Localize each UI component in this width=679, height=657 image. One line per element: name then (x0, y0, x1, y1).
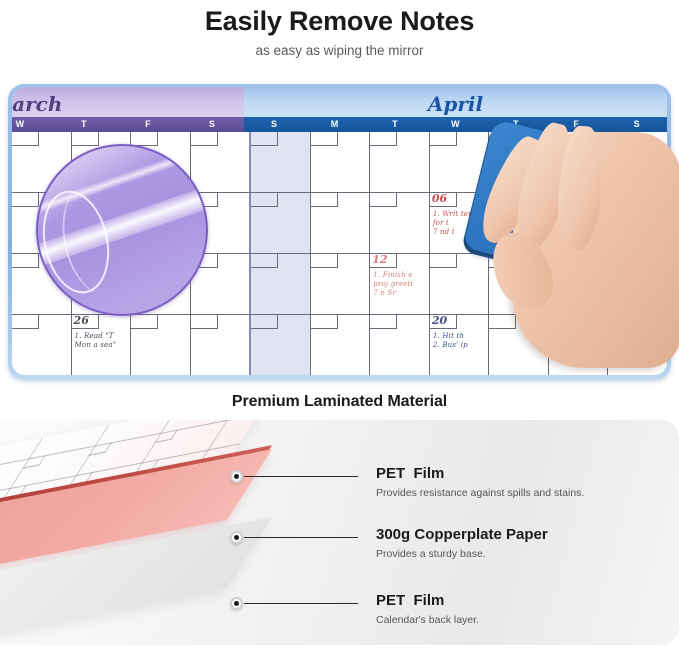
laminate-closeup-magnifier (36, 144, 208, 316)
date-box (370, 132, 397, 146)
date-box (251, 315, 278, 329)
callout-line (244, 537, 358, 538)
calendar-cell[interactable] (190, 132, 250, 192)
callout-desc: Calendar's back layer. (376, 612, 479, 628)
month-label-march: March (12, 92, 62, 116)
dow-cell: T (365, 117, 425, 132)
calendar-cell[interactable] (369, 193, 429, 253)
handwritten-note: 1. Finish e proj greeti 7 n Sr (373, 271, 413, 298)
calendar-cell[interactable] (310, 315, 370, 375)
callout-text-pet-film-back: PET Film Calendar's back layer. (376, 591, 479, 628)
date-box (430, 254, 457, 268)
calendar-cell[interactable] (369, 132, 429, 192)
dow-cell: S (244, 117, 304, 132)
date-number: 06 (432, 192, 447, 206)
date-box (12, 315, 39, 329)
callout-text-copperplate-paper: 300g Copperplate Paper Provides a sturdy… (376, 525, 548, 562)
page-subtitle: as easy as wiping the mirror (0, 40, 679, 62)
date-box (251, 193, 278, 207)
calendar-cell[interactable] (190, 315, 250, 375)
callout-dot-pet-film-top[interactable] (230, 470, 243, 483)
callout-dot-pet-film-back[interactable] (230, 597, 243, 610)
date-box (311, 193, 338, 207)
calendar-cell[interactable] (249, 193, 310, 253)
date-number: 12 (372, 253, 387, 267)
date-box (12, 132, 39, 146)
date-box (191, 315, 218, 329)
callout-line (244, 476, 358, 477)
callout-title: PET Film (376, 464, 584, 484)
dow-cell: M (304, 117, 364, 132)
callout-desc: Provides a sturdy base. (376, 546, 548, 562)
callout-title: PET Film (376, 591, 479, 611)
callout-line (244, 603, 358, 604)
date-box (12, 254, 39, 268)
month-bar-march: March (12, 87, 244, 117)
page-header: Easily Remove Notes as easy as wiping th… (0, 0, 679, 62)
calendar-cell[interactable] (130, 315, 190, 375)
date-box (251, 254, 278, 268)
layer-callouts: PET Film Provides resistance against spi… (0, 420, 679, 645)
calendar-cell[interactable] (310, 193, 370, 253)
calendar-cell[interactable] (249, 315, 310, 375)
date-box (191, 132, 218, 146)
date-box (370, 315, 397, 329)
date-box (311, 132, 338, 146)
dow-march: W T F S (12, 117, 244, 132)
handwritten-note: 1. Read "T Mon a sea" (75, 332, 117, 350)
date-box (131, 132, 158, 146)
dow-cell: F (116, 117, 180, 132)
calendar-cell[interactable] (249, 132, 310, 192)
dow-cell: T (52, 117, 116, 132)
date-number: 20 (432, 314, 447, 328)
hand-with-eraser (455, 112, 679, 382)
material-section-title: Premium Laminated Material (0, 393, 679, 411)
date-box (430, 132, 457, 146)
date-box (131, 315, 158, 329)
date-box (12, 193, 39, 207)
callout-text-pet-film-top: PET Film Provides resistance against spi… (376, 464, 584, 501)
date-box (72, 132, 99, 146)
dow-cell: W (12, 117, 52, 132)
material-panel: PET Film Provides resistance against spi… (0, 420, 679, 645)
calendar-cell[interactable] (310, 132, 370, 192)
date-box (370, 193, 397, 207)
calendar-cell[interactable] (12, 315, 71, 375)
calendar-cell[interactable] (310, 254, 370, 314)
date-box (311, 254, 338, 268)
calendar-cell[interactable] (369, 315, 429, 375)
callout-title: 300g Copperplate Paper (376, 525, 548, 545)
calendar-cell[interactable]: 26 1. Read "T Mon a sea" (71, 315, 131, 375)
date-number: 26 (74, 314, 89, 328)
date-box (311, 315, 338, 329)
calendar-cell[interactable] (249, 254, 310, 314)
callout-desc: Provides resistance against spills and s… (376, 485, 584, 501)
dow-cell: S (180, 117, 244, 132)
callout-dot-copperplate-paper[interactable] (230, 531, 243, 544)
page-title: Easily Remove Notes (0, 4, 679, 38)
date-box (251, 132, 278, 146)
calendar-cell[interactable]: 12 1. Finish e proj greeti 7 n Sr (369, 254, 429, 314)
